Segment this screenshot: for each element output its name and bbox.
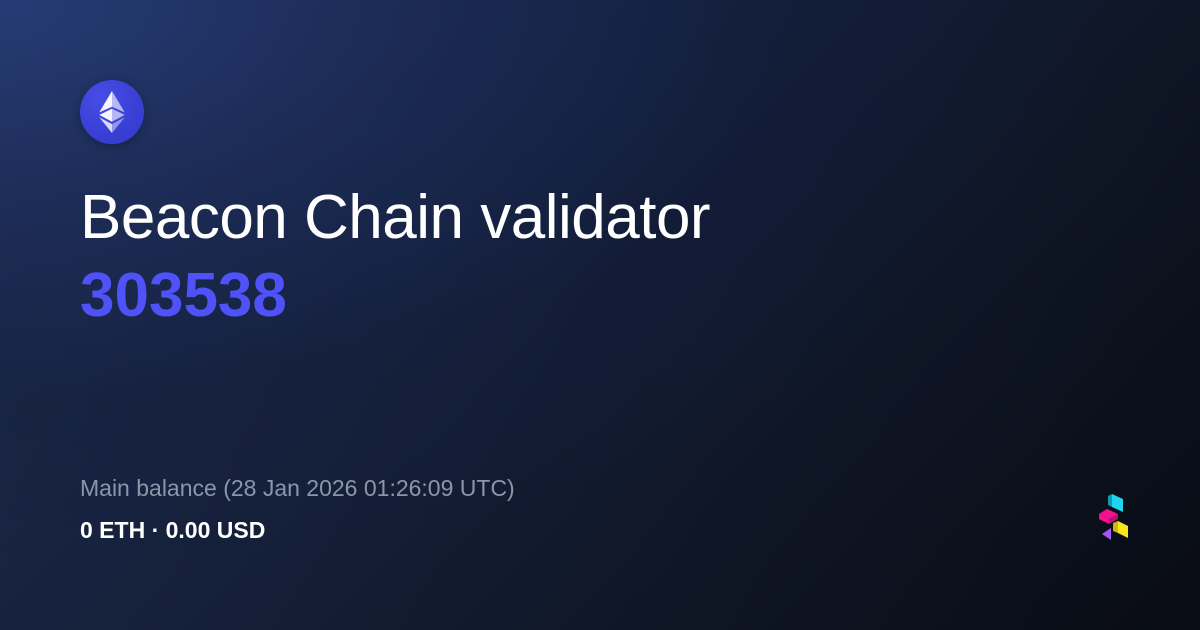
ethereum-avatar [80,80,144,144]
balance-value: 0 ETH · 0.00 USD [80,516,515,544]
beaconchain-logo-icon [1098,492,1132,544]
brand-logo [1098,492,1132,544]
page-title-text: Beacon Chain validator [80,182,1120,254]
ethereum-diamond-icon [99,91,125,133]
og-card: Beacon Chain validator 303538 Main balan… [0,0,1200,630]
validator-index: 303538 [80,260,1120,332]
balance-block: Main balance (28 Jan 2026 01:26:09 UTC) … [80,473,515,544]
card-header: Beacon Chain validator 303538 [80,80,1120,332]
balance-label: Main balance (28 Jan 2026 01:26:09 UTC) [80,473,515,503]
page-title: Beacon Chain validator 303538 [80,182,1120,332]
